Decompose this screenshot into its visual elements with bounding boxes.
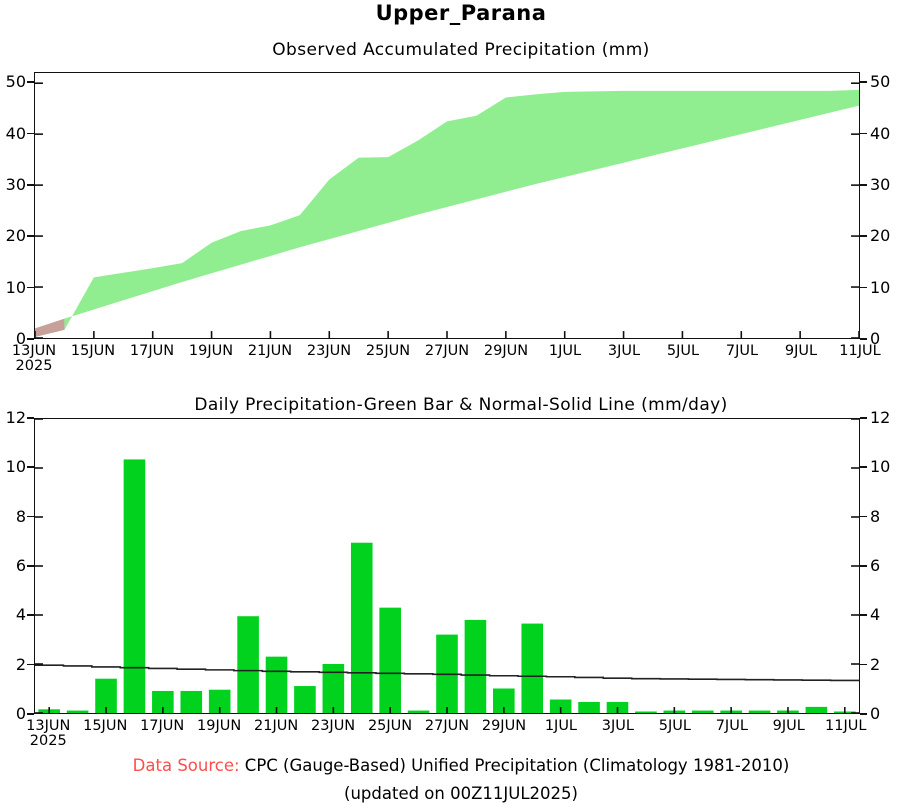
x-axis-label-daily-11JUL: 11JUL bbox=[811, 719, 881, 734]
tick-mark bbox=[860, 235, 867, 237]
x-axis-year-daily: 2025 bbox=[13, 734, 83, 749]
tick-mark bbox=[860, 417, 867, 419]
tick-mark bbox=[27, 287, 34, 289]
tick-mark bbox=[860, 184, 867, 186]
y-axis-label-accumulated-right-10: 10 bbox=[870, 280, 910, 296]
tick-mark bbox=[27, 713, 34, 715]
x-axis-label-accumulated-11JUL: 11JUL bbox=[825, 344, 895, 359]
y-axis-label-daily-right-8: 8 bbox=[870, 509, 910, 525]
daily-plot-canvas bbox=[35, 419, 859, 713]
tick-mark bbox=[860, 565, 867, 567]
y-axis-label-daily-right-2: 2 bbox=[870, 657, 910, 673]
x-axis-year-accumulated: 2025 bbox=[0, 359, 69, 374]
data-source-text: CPC (Gauge-Based) Unified Precipitation … bbox=[240, 756, 790, 775]
y-axis-label-daily-right-10: 10 bbox=[870, 459, 910, 475]
data-source-line: Data Source: CPC (Gauge-Based) Unified P… bbox=[0, 752, 922, 779]
y-axis-label-accumulated-right-40: 40 bbox=[870, 126, 910, 142]
daily-precipitation-plot bbox=[34, 418, 860, 714]
tick-mark bbox=[860, 133, 867, 135]
accumulated-precipitation-plot bbox=[34, 72, 860, 339]
y-axis-label-daily-right-6: 6 bbox=[870, 558, 910, 574]
updated-line: (updated on 00Z11JUL2025) bbox=[0, 780, 922, 807]
y-axis-label-daily-right-12: 12 bbox=[870, 410, 910, 426]
tick-mark bbox=[27, 184, 34, 186]
tick-mark bbox=[27, 235, 34, 237]
tick-mark bbox=[27, 614, 34, 616]
y-axis-label-daily-left-12: 12 bbox=[0, 410, 26, 426]
accumulated-chart-title: Observed Accumulated Precipitation (mm) bbox=[0, 40, 922, 60]
y-axis-label-accumulated-left-50: 50 bbox=[0, 74, 26, 90]
y-axis-label-accumulated-left-20: 20 bbox=[0, 228, 26, 244]
tick-mark bbox=[860, 516, 867, 518]
accumulated-plot-canvas bbox=[35, 73, 859, 338]
data-source-label: Data Source: bbox=[133, 756, 240, 775]
tick-mark bbox=[27, 565, 34, 567]
y-axis-label-daily-left-2: 2 bbox=[0, 657, 26, 673]
daily-chart-title: Daily Precipitation-Green Bar & Normal-S… bbox=[0, 395, 922, 415]
tick-mark bbox=[860, 614, 867, 616]
y-axis-label-daily-right-4: 4 bbox=[870, 607, 910, 623]
y-axis-label-accumulated-right-50: 50 bbox=[870, 74, 910, 90]
tick-mark bbox=[860, 287, 867, 289]
y-axis-label-accumulated-left-30: 30 bbox=[0, 177, 26, 193]
y-axis-label-accumulated-right-20: 20 bbox=[870, 228, 910, 244]
tick-mark bbox=[27, 133, 34, 135]
y-axis-label-daily-left-6: 6 bbox=[0, 558, 26, 574]
tick-mark bbox=[860, 338, 867, 340]
tick-mark bbox=[860, 466, 867, 468]
chart-page: Upper_Parana Observed Accumulated Precip… bbox=[0, 0, 922, 809]
tick-mark bbox=[860, 81, 867, 83]
tick-mark bbox=[27, 417, 34, 419]
tick-mark bbox=[860, 664, 867, 666]
page-title: Upper_Parana bbox=[0, 0, 922, 26]
y-axis-label-accumulated-right-30: 30 bbox=[870, 177, 910, 193]
tick-mark bbox=[27, 516, 34, 518]
tick-mark bbox=[27, 664, 34, 666]
tick-mark bbox=[27, 466, 34, 468]
y-axis-label-accumulated-left-10: 10 bbox=[0, 280, 26, 296]
tick-mark bbox=[27, 81, 34, 83]
tick-mark bbox=[27, 338, 34, 340]
y-axis-label-daily-left-4: 4 bbox=[0, 607, 26, 623]
y-axis-label-daily-left-8: 8 bbox=[0, 509, 26, 525]
tick-mark bbox=[860, 713, 867, 715]
y-axis-label-accumulated-left-40: 40 bbox=[0, 126, 26, 142]
y-axis-label-daily-left-10: 10 bbox=[0, 459, 26, 475]
